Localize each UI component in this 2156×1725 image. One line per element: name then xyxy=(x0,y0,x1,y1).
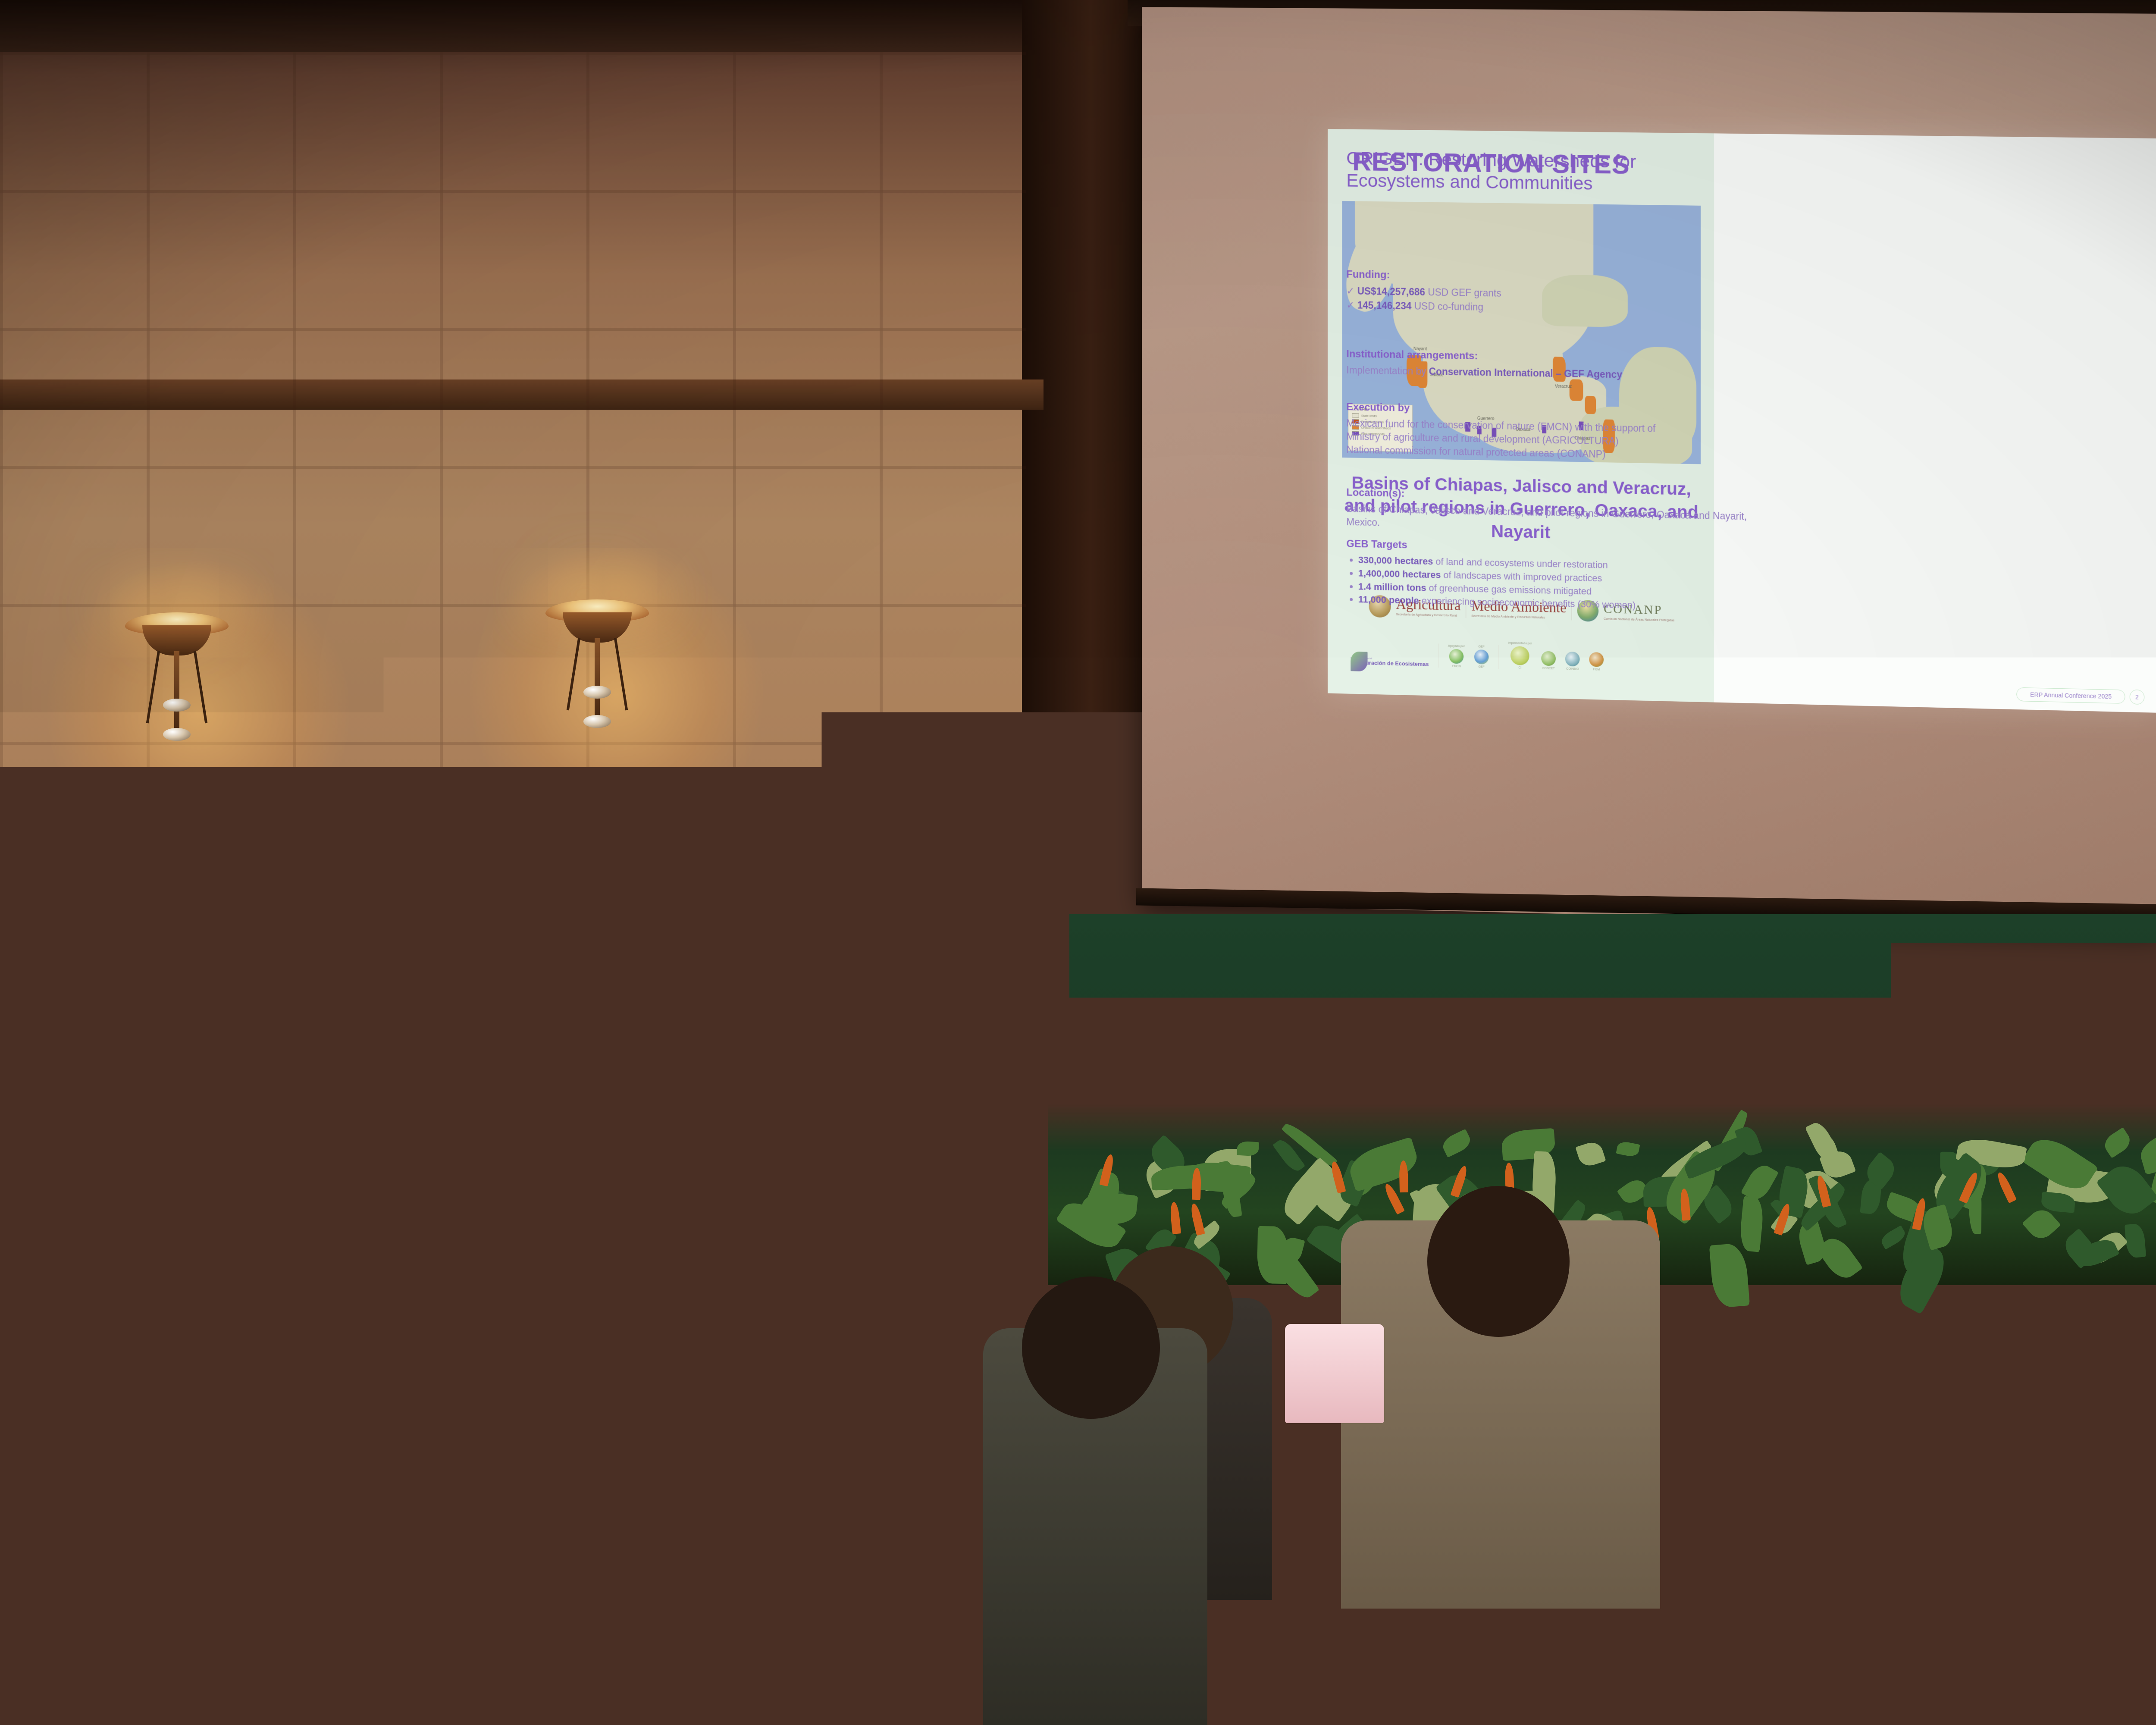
map-label-veracruz: Veracruz xyxy=(1555,384,1572,389)
backdrop-leaf xyxy=(1237,1141,1260,1157)
location-block: Location(s): Basins of Chiapas, Jalisco … xyxy=(1346,487,1757,537)
backdrop-leaf xyxy=(1345,1137,1422,1192)
fgm-logo: FGM xyxy=(1589,652,1604,671)
backdrop-leaf xyxy=(1739,1196,1765,1252)
restauracion-leaf-icon xyxy=(1351,652,1367,672)
slide-heading: ORIGEN: Restoring Watersheds for Ecosyst… xyxy=(1346,147,1739,197)
backdrop-leaf xyxy=(1709,1243,1749,1308)
backdrop-leaf xyxy=(2125,1223,2146,1258)
podium-branding: SOKHA Angkor RESORT xyxy=(507,1137,791,1235)
speaker-shirt-org: CONANP xyxy=(611,1000,659,1013)
slide-right-pane xyxy=(1714,133,2156,713)
projected-slide: RESTORATION SITES xyxy=(1328,129,2156,713)
projection-screen-assembly: RESTORATION SITES xyxy=(1128,0,2156,931)
wine-glass-right xyxy=(2009,1609,2063,1725)
backdrop-leaf xyxy=(1616,1141,1640,1158)
heliconia-flower xyxy=(1995,1170,2017,1203)
fgm-name: FGM xyxy=(1593,668,1600,671)
fmcn-name: FMCN xyxy=(1452,665,1461,668)
apsara-figure-icon xyxy=(647,1090,653,1118)
coinbio-mark-icon xyxy=(1565,652,1580,667)
speaker-hand xyxy=(599,1018,641,1050)
audience-head-mid xyxy=(1022,1276,1160,1419)
ci-name: CI xyxy=(1518,666,1521,669)
backdrop-leaf xyxy=(1440,1129,1473,1158)
logo2-divider-2 xyxy=(1498,645,1498,669)
fmcn-logo: Apoyado por FMCN xyxy=(1448,645,1465,668)
wall-sconce-1 xyxy=(121,612,233,742)
ci-logo: Implementado por CI xyxy=(1508,642,1532,670)
fmcn-mark-icon xyxy=(1449,649,1464,664)
pink-flower-left xyxy=(334,1337,357,1360)
institutional-bold: Conservation International – GEF Agency xyxy=(1429,366,1622,380)
wristwatch xyxy=(2070,1639,2122,1663)
logo-agricultura-sub: Secretaría de Agricultura y Desarrollo R… xyxy=(1396,613,1461,617)
geb-target-list: 330,000 hectares of land and ecosystems … xyxy=(1346,553,1757,615)
sokha-flower-icon xyxy=(627,1082,672,1126)
execution-block: Execution by Mexican fund for the conser… xyxy=(1346,401,1757,464)
heliconia-flower xyxy=(1192,1168,1201,1200)
footer-conference-name: ERP Annual Conference 2025 xyxy=(2017,687,2125,704)
ci-caption: Implementado por xyxy=(1508,642,1532,645)
logo-conanp-sub: Comisión Nacional de Áreas Naturales Pro… xyxy=(1604,618,1674,622)
laptop-dock[interactable] xyxy=(1645,1652,1664,1725)
venue-rule xyxy=(584,1176,714,1179)
backdrop-leaf xyxy=(1879,1225,1907,1249)
fmcn-caption: Apoyado por xyxy=(1448,645,1465,648)
audience-head-tan-suit xyxy=(1427,1186,1570,1337)
water-bottle-cap xyxy=(521,941,541,950)
conanp-shirt-emblem-icon xyxy=(618,971,645,998)
microphone-capsule-icon xyxy=(624,941,648,960)
heliconia-flower xyxy=(1169,1202,1181,1235)
backdrop-leaf xyxy=(1892,1242,1953,1315)
audience-head-green-top xyxy=(768,1311,931,1483)
backdrop-leaf xyxy=(2033,1246,2059,1305)
ice-bucket-left xyxy=(1457,1540,1600,1669)
ci-mark-icon xyxy=(1510,646,1529,665)
foncet-mark-icon xyxy=(1542,651,1556,666)
backdrop-leaf xyxy=(1989,1238,2037,1284)
water-bottle xyxy=(518,962,543,1048)
venue-sub: RESORT xyxy=(507,1213,791,1235)
backdrop-leaf xyxy=(1575,1140,1606,1169)
laptop-sidebar[interactable] xyxy=(1371,1678,1445,1725)
gef-name: GEF xyxy=(1479,665,1485,668)
footer-page-number: 2 xyxy=(2130,690,2145,705)
funding-block: Funding: ✓ US$14,257,686 USD GEF grants✓… xyxy=(1346,269,1757,319)
venue-script: Angkor xyxy=(507,1182,791,1211)
restauracion-logo: Programa Especial Restauración de Ecosis… xyxy=(1351,657,1429,668)
napkin-center xyxy=(1285,1324,1384,1423)
eyeglasses-icon xyxy=(1992,1393,2071,1418)
speaker-shirt-accent xyxy=(658,1008,670,1037)
foncet-logo: FONCET xyxy=(1542,651,1556,671)
institutional-pre: Implementation by xyxy=(1346,364,1429,377)
slide-footer: ERP Annual Conference 2025 2 xyxy=(2017,687,2145,705)
ceiling-beam-left xyxy=(0,0,1138,52)
conference-room-photo: RESTORATION SITES xyxy=(0,0,2156,1725)
podium-corner-carving-right xyxy=(750,1043,792,1084)
coinbio-logo: COINBIO xyxy=(1565,652,1580,671)
gef-mark-icon xyxy=(1474,649,1489,665)
gef-caption: GEF xyxy=(1479,645,1485,648)
water-glass-right xyxy=(1932,1574,1977,1684)
backdrop-leaf xyxy=(1257,1226,1289,1284)
backdrop-leaf xyxy=(2101,1128,2134,1159)
coinbio-name: COINBIO xyxy=(1566,668,1579,671)
logo2-divider-1 xyxy=(1438,643,1438,668)
wall-sconce-2 xyxy=(541,599,653,729)
podium-flower-arrangement xyxy=(690,940,793,1044)
foncet-name: FONCET xyxy=(1542,667,1555,671)
gef-logo: GEF GEF xyxy=(1474,645,1489,668)
geb-block: GEB Targets 330,000 hectares of land and… xyxy=(1346,538,1757,615)
venue-name: SOKHA xyxy=(507,1137,791,1173)
speaker-hair xyxy=(536,832,624,897)
fgm-mark-icon xyxy=(1589,652,1604,667)
backdrop-leaf xyxy=(2137,1125,2156,1175)
audience-head-patterned-dress xyxy=(517,1259,655,1397)
drinking-glass-podium xyxy=(561,1013,598,1044)
audio-interface[interactable] xyxy=(152,1432,234,1466)
heliconia-flower xyxy=(1189,1203,1205,1236)
